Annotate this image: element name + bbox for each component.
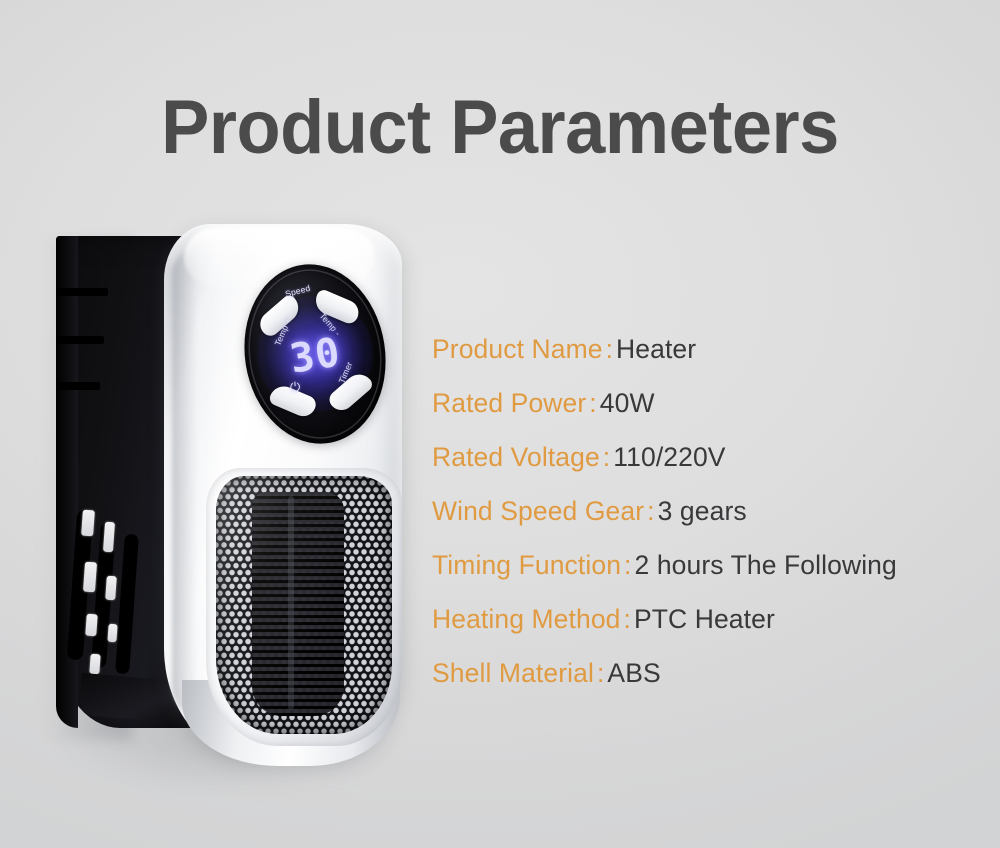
spec-value: 3 gears	[658, 496, 747, 526]
spec-separator: :	[621, 604, 634, 634]
spec-row: Wind Speed Gear:3 gears	[432, 484, 977, 538]
spec-separator: :	[586, 388, 599, 418]
rear-vent-slot	[105, 576, 117, 601]
spec-value: ABS	[607, 658, 660, 688]
product-image-heater: Speed Temp + Temp - ⏻ Timer 30	[34, 210, 414, 770]
rear-vent-slot	[103, 522, 115, 553]
rear-groove	[56, 336, 104, 344]
spec-label: Wind Speed Gear	[432, 496, 644, 526]
spec-label: Heating Method	[432, 604, 621, 634]
spec-row: Rated Voltage:110/220V	[432, 430, 977, 484]
rear-vent-slot	[81, 510, 95, 537]
spec-separator: :	[594, 658, 607, 688]
rear-vent-slot	[85, 614, 98, 637]
spec-value: Heater	[616, 334, 696, 364]
spec-label: Rated Voltage	[432, 442, 600, 472]
spec-label: Shell Material	[432, 658, 594, 688]
spec-value: PTC Heater	[634, 604, 775, 634]
spec-separator: :	[621, 550, 634, 580]
ptc-heating-element	[252, 492, 344, 716]
product-parameters-page: Product Parameters S	[0, 0, 1000, 848]
spec-label: Product Name	[432, 334, 603, 364]
page-title: Product Parameters	[25, 84, 975, 171]
spec-row: Product Name:Heater	[432, 322, 977, 376]
spec-row: Rated Power:40W	[432, 376, 977, 430]
spec-row: Shell Material:ABS	[432, 646, 977, 700]
honeycomb-grille	[216, 476, 392, 734]
spec-value: 110/220V	[613, 442, 725, 472]
spec-separator: :	[600, 442, 613, 472]
rear-groove	[56, 382, 100, 390]
rear-groove	[56, 288, 108, 296]
spec-value: 40W	[600, 388, 655, 418]
rear-vent-slot	[83, 562, 97, 593]
ptc-element-gap	[288, 496, 294, 710]
spec-label: Timing Function	[432, 550, 621, 580]
rear-vent-slot	[89, 654, 100, 675]
spec-list: Product Name:Heater Rated Power:40W Rate…	[432, 322, 977, 700]
spec-value: 2 hours The Following	[635, 550, 897, 580]
spec-row: Heating Method:PTC Heater	[432, 592, 977, 646]
rear-vent-slot	[107, 624, 117, 643]
spec-label: Rated Power	[432, 388, 586, 418]
spec-separator: :	[644, 496, 657, 526]
spec-row: Timing Function:2 hours The Following	[432, 538, 977, 592]
spec-separator: :	[603, 334, 616, 364]
